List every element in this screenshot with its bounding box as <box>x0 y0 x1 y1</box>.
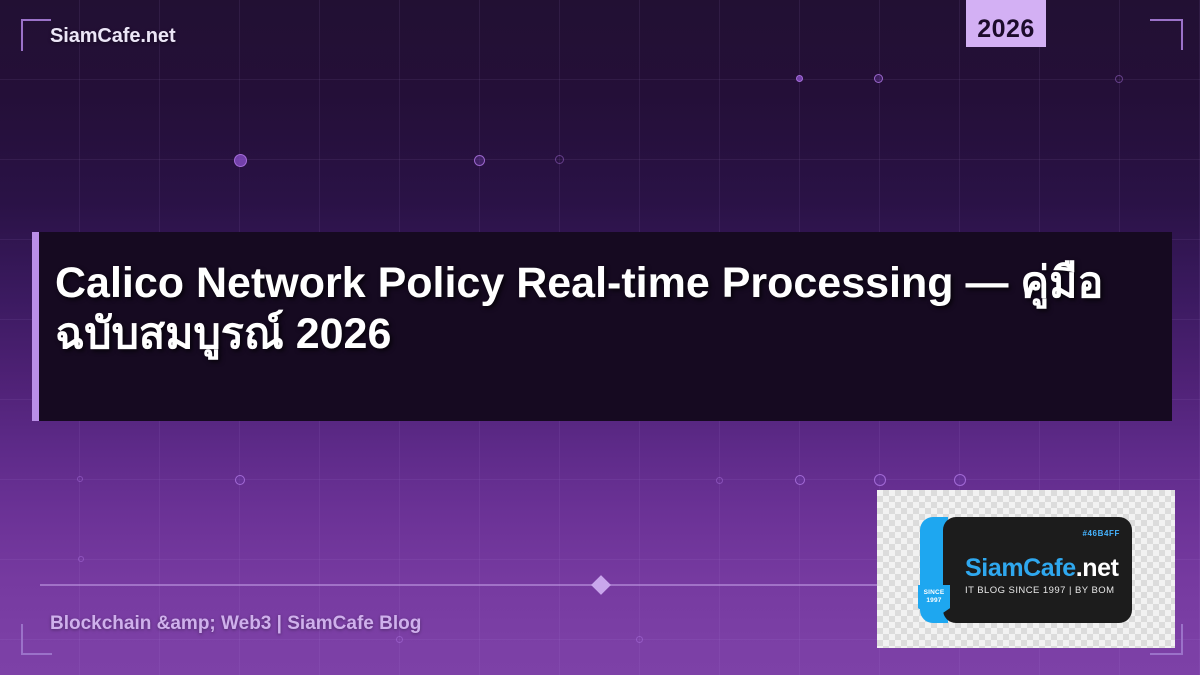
logo-tagline: IT BLOG SINCE 1997 | BY BOM <box>965 585 1114 596</box>
decorative-dot <box>796 75 803 82</box>
decorative-dot <box>874 474 886 486</box>
logo-card: #46B4FF SiamCafe.net IT BLOG SINCE 1997 … <box>877 490 1175 648</box>
decorative-dot <box>474 155 485 166</box>
footer-caption: Blockchain &amp; Web3 | SiamCafe Blog <box>50 613 421 635</box>
decorative-dot <box>77 476 83 482</box>
ribbon-line-2: 1997 <box>926 597 941 605</box>
decorative-dot <box>795 475 805 485</box>
year-badge: 2026 <box>966 0 1046 47</box>
brand-name: SiamCafe.net <box>50 25 176 48</box>
decorative-dot <box>235 475 245 485</box>
logo-wordmark-primary: SiamCafe <box>965 554 1076 582</box>
title-accent-bar <box>32 232 39 421</box>
decorative-dot <box>234 154 247 167</box>
decorative-dot <box>396 636 403 643</box>
logo-badge: #46B4FF SiamCafe.net IT BLOG SINCE 1997 … <box>920 517 1132 623</box>
decorative-dot <box>78 556 84 562</box>
decorative-dot <box>555 155 564 164</box>
logo-wordmark: SiamCafe.net <box>965 554 1119 583</box>
corner-bracket-top-left <box>21 19 51 51</box>
corner-bracket-top-right <box>1150 19 1183 50</box>
decorative-dot <box>716 477 723 484</box>
presentation-slide: SiamCafe.net 2026 Calico Network Policy … <box>0 0 1200 675</box>
corner-bracket-bottom-left <box>21 624 52 655</box>
logo-hex-code: #46B4FF <box>1082 529 1120 538</box>
page-title: Calico Network Policy Real-time Processi… <box>55 258 1145 360</box>
year-badge-label: 2026 <box>977 15 1035 44</box>
decorative-dot <box>874 74 883 83</box>
ribbon-line-1: SINCE <box>924 589 945 597</box>
decorative-dot <box>1115 75 1123 83</box>
logo-dark-panel: #46B4FF SiamCafe.net IT BLOG SINCE 1997 … <box>943 517 1132 623</box>
decorative-dot <box>954 474 966 486</box>
logo-wordmark-suffix: .net <box>1076 554 1119 582</box>
divider-diamond-marker <box>591 575 611 595</box>
decorative-dot <box>636 636 643 643</box>
